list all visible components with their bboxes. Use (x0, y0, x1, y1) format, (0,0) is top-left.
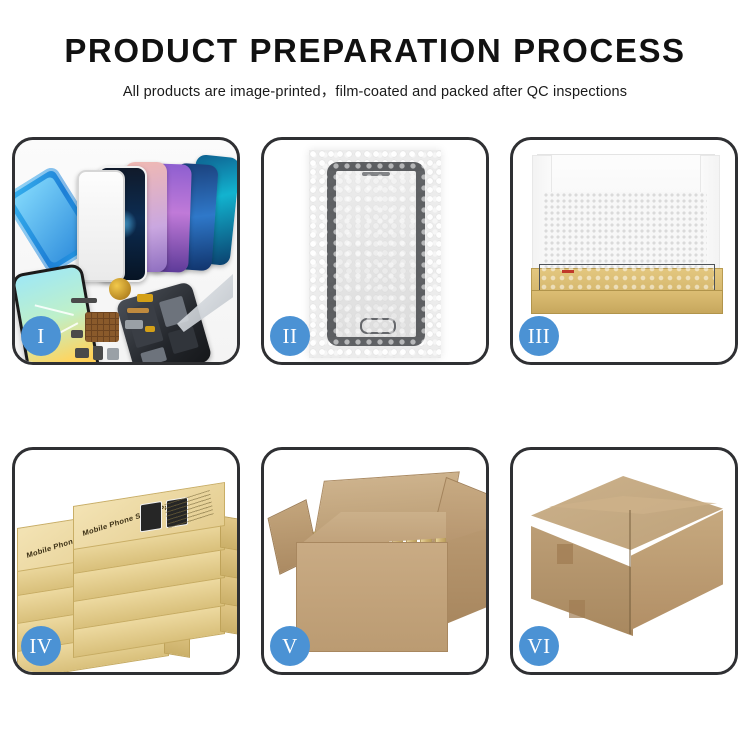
step-badge-5: V (270, 626, 310, 666)
chip-grid-icon (85, 312, 119, 342)
carton-flap-tab (569, 600, 585, 618)
glass-panel-icon (77, 170, 125, 282)
phone-lineup (85, 154, 237, 284)
page-header: PRODUCT PREPARATION PROCESS All products… (0, 0, 750, 101)
step-badge-4: IV (21, 626, 61, 666)
step-panel-1: I (12, 137, 240, 365)
step-badge-3: III (519, 316, 559, 356)
step-panel-6: VI (510, 447, 738, 675)
step-image-4: Mobile Phone Spare Parts Mobile Phone Sp… (15, 450, 237, 672)
home-button-icon (360, 318, 396, 334)
spare-parts-group (71, 286, 191, 362)
foam-padding (543, 192, 707, 270)
carton-body (296, 542, 448, 652)
speaker-coil-icon (109, 278, 131, 300)
step-panel-5: V (261, 447, 489, 675)
process-steps-grid: I II III (12, 137, 738, 675)
earpiece-slot-icon (362, 172, 390, 176)
carton-vertical-edge (629, 510, 631, 634)
step-image-3: III (513, 140, 735, 362)
step-panel-2: II (261, 137, 489, 365)
carton-flap-tab (557, 544, 573, 564)
step-image-5: V (264, 450, 486, 672)
step-image-2: II (264, 140, 486, 362)
page-subtitle: All products are image-printed，film-coat… (0, 80, 750, 101)
kraft-box-front (531, 290, 723, 314)
step-badge-2: II (270, 316, 310, 356)
step-badge-1: I (21, 316, 61, 356)
step-panel-4: Mobile Phone Spare Parts Mobile Phone Sp… (12, 447, 240, 675)
step-image-6: VI (513, 450, 735, 672)
page-title: PRODUCT PREPARATION PROCESS (0, 34, 750, 69)
carton-side-right (446, 528, 486, 624)
step-badge-6: VI (519, 626, 559, 666)
step-image-1: I (15, 140, 237, 362)
step-panel-3: III (510, 137, 738, 365)
